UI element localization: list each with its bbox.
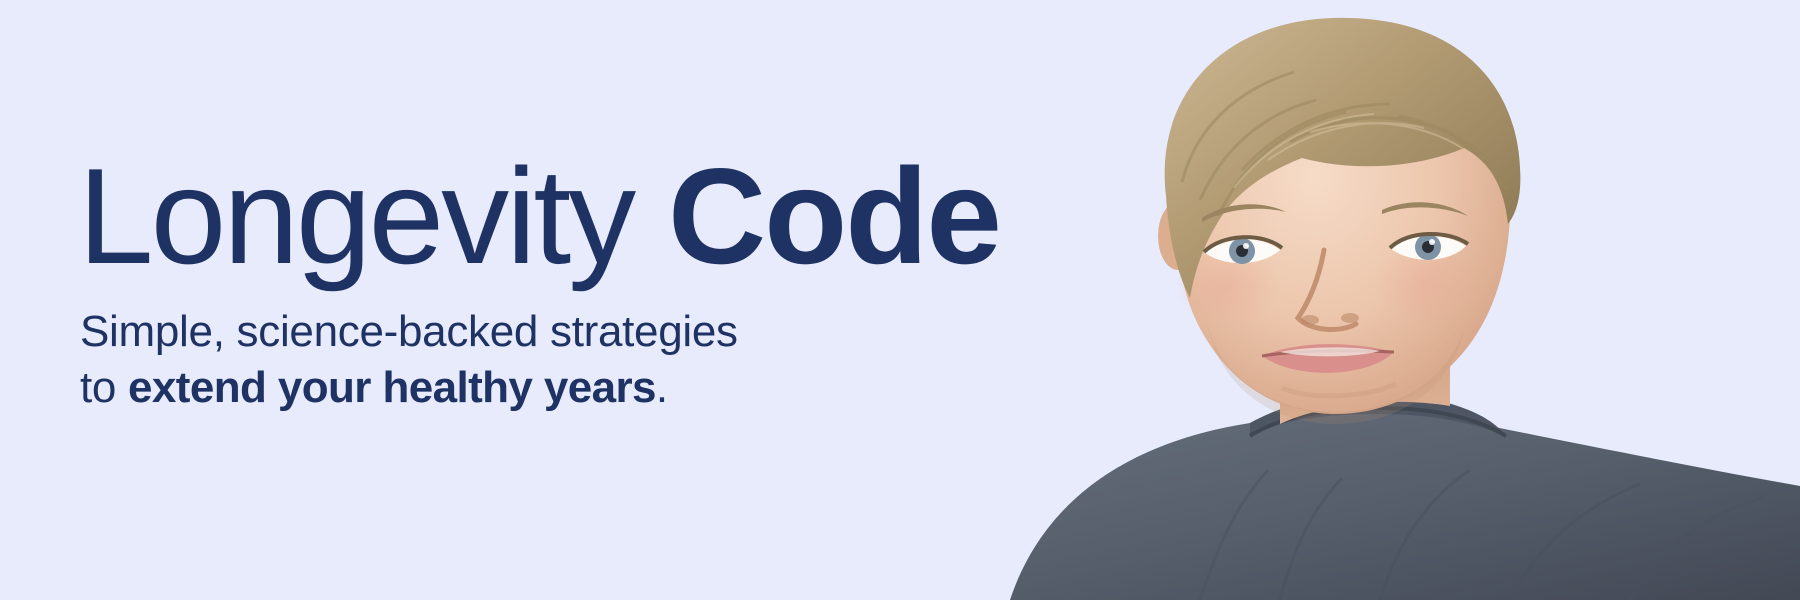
hero-banner: Longevity Code Simple, science-backed st… [0,0,1800,600]
nostril-right [1341,313,1359,323]
subtitle-line-2: to extend your healthy years. [80,360,668,416]
page-title-bold-part: Code [668,140,1000,292]
subtitle-line-1-text: Simple, science-backed strategies [80,307,738,356]
hero-text-block: Longevity Code Simple, science-backed st… [78,0,1078,600]
subtitle-line-2-prefix: to [80,363,128,412]
nostril-left [1301,315,1319,325]
subtitle-line-1: Simple, science-backed strategies [80,304,738,360]
subtitle-line-2-suffix: . [656,363,668,412]
subtitle-line-2-emphasis: extend your healthy years [128,363,656,412]
page-title: Longevity Code [78,148,1000,284]
page-title-light-part: Longevity [78,140,668,292]
